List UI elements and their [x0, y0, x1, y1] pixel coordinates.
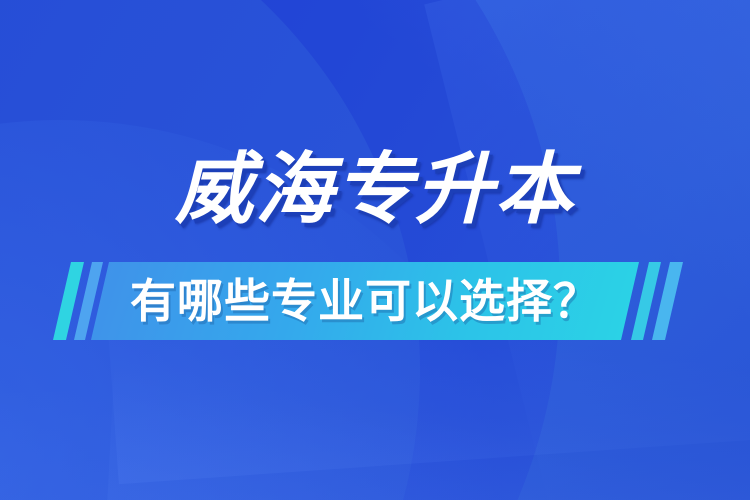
background-wave-bottom [0, 365, 750, 500]
background-wave-bottom-right [103, 206, 750, 484]
headline-text: 威海专升本 [175, 150, 575, 228]
promo-banner: 威海专升本 有哪些专业可以选择？ [0, 0, 750, 500]
background-arc-ribbon [0, 0, 500, 500]
background-facet-top-right-second [424, 0, 750, 500]
subtitle-text-wrapper: 有哪些专业可以选择？ [100, 262, 630, 340]
subtitle-band: 有哪些专业可以选择？ [0, 262, 750, 340]
background-arc-dark-second [0, 0, 420, 500]
background-wave-bottom-right-second [105, 340, 750, 500]
subtitle-text: 有哪些专业可以选择？ [130, 278, 600, 324]
headline: 威海专升本 [0, 150, 750, 228]
background-arc-dark [0, 0, 560, 500]
